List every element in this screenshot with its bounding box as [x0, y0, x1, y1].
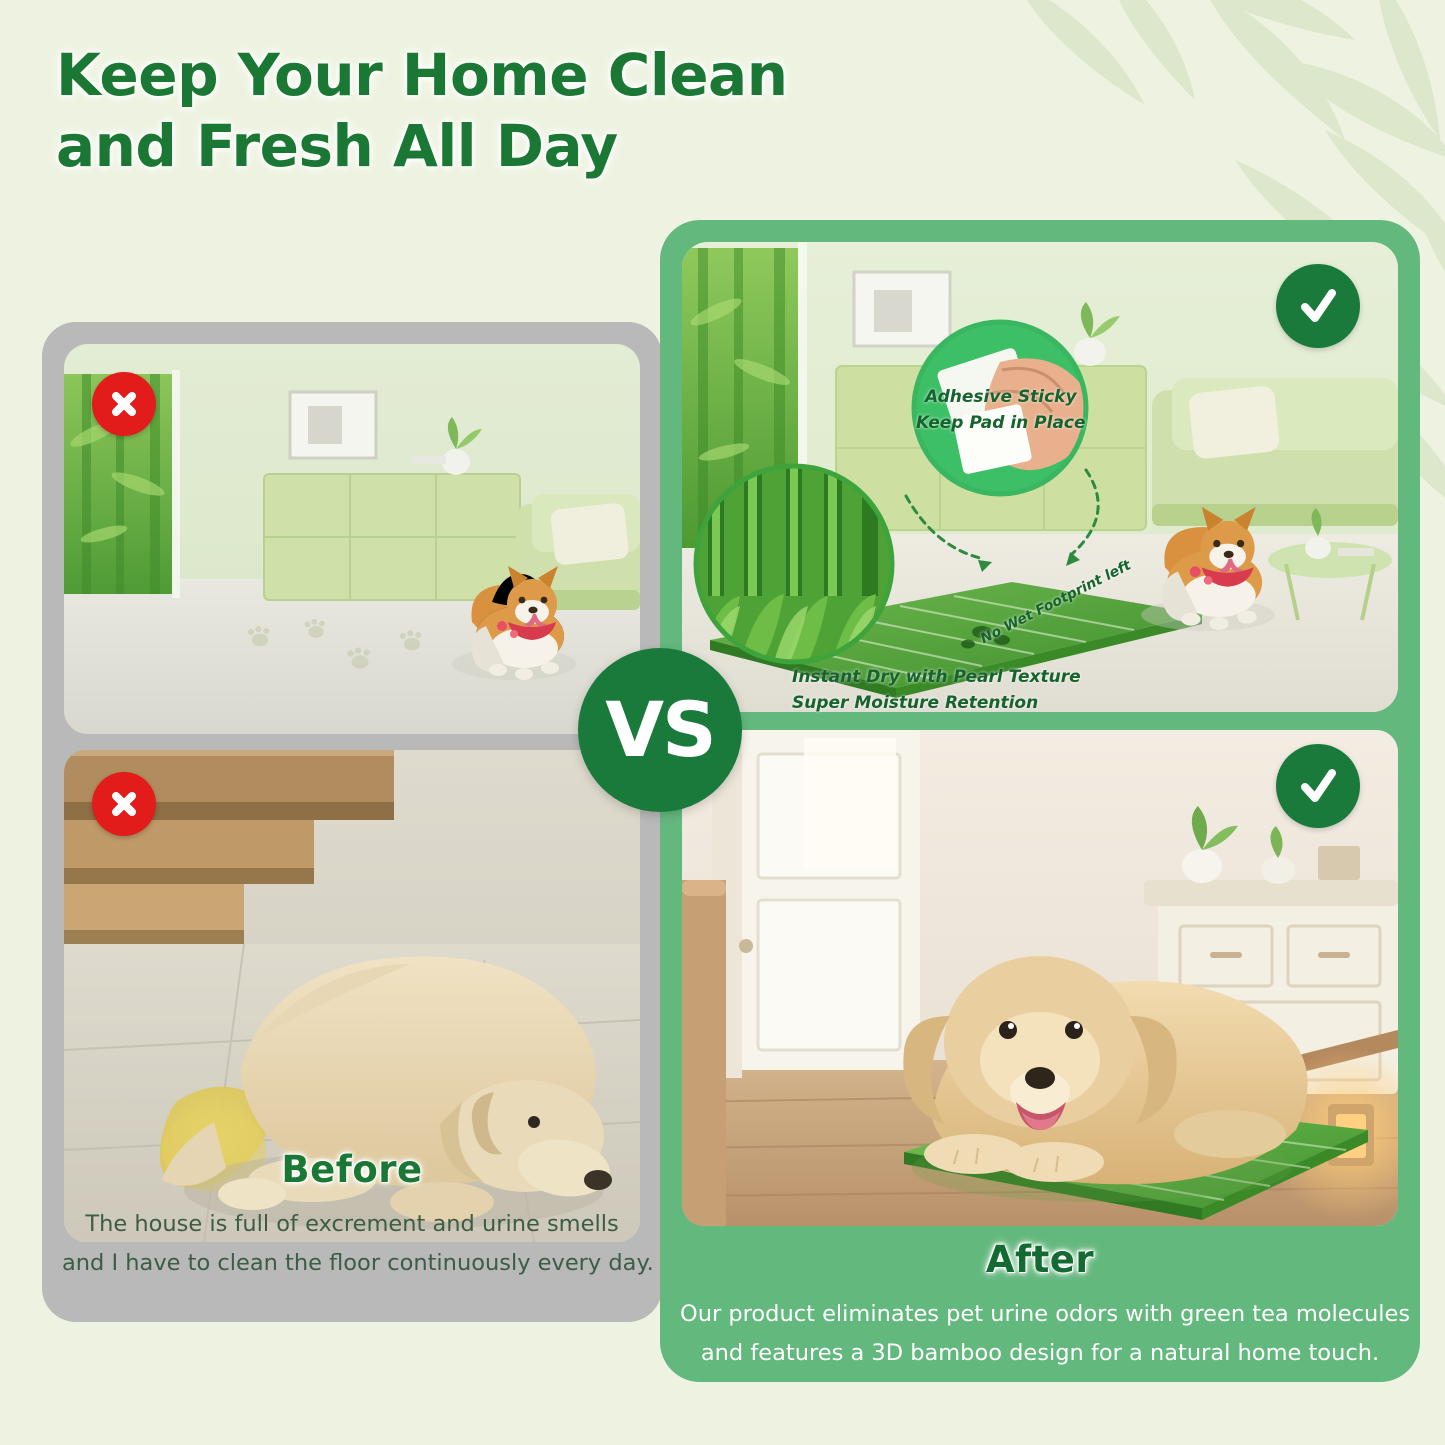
before-description: The house is full of excrement and urine… — [62, 1205, 642, 1284]
annotation-adhesive-line-2: Keep Pad in Place — [916, 410, 1086, 436]
annotation-adhesive-line-1: Adhesive Sticky — [916, 384, 1086, 410]
before-caption: Before The house is full of excrement an… — [62, 1148, 642, 1284]
annotation-instant-line-1: Instant Dry with Pearl Texture — [792, 664, 1081, 690]
after-description: Our product eliminates pet urine odors w… — [680, 1295, 1400, 1374]
annotation-adhesive: Adhesive Sticky Keep Pad in Place — [916, 384, 1086, 437]
check-mark-icon — [1292, 760, 1344, 812]
check-badge — [1276, 744, 1360, 828]
after-title: After — [680, 1238, 1400, 1281]
before-title: Before — [62, 1148, 642, 1191]
annotation-instant-dry: Instant Dry with Pearl Texture Super Moi… — [792, 664, 1081, 717]
headline-line-1: Keep Your Home Clean — [56, 41, 787, 109]
x-mark-icon — [107, 387, 141, 421]
after-image-dog-on-pad — [682, 730, 1398, 1226]
before-description-line-2: and I have to clean the floor continuous… — [62, 1244, 642, 1283]
vs-label: VS — [605, 692, 715, 768]
page-title: Keep Your Home Clean and Fresh All Day — [56, 40, 876, 182]
cross-badge — [92, 772, 156, 836]
x-mark-icon — [107, 787, 141, 821]
before-image-living-room — [64, 344, 640, 734]
cross-badge — [92, 372, 156, 436]
vs-badge: VS — [578, 648, 742, 812]
poster-canvas: Keep Your Home Clean and Fresh All Day — [0, 0, 1445, 1445]
annotation-instant-line-2: Super Moisture Retention — [792, 690, 1081, 716]
before-description-line-1: The house is full of excrement and urine… — [62, 1205, 642, 1244]
after-description-line-2: and features a 3D bamboo design for a na… — [680, 1334, 1400, 1373]
check-badge — [1276, 264, 1360, 348]
headline-line-2: and Fresh All Day — [56, 111, 876, 182]
check-mark-icon — [1292, 280, 1344, 332]
after-image-pad-features — [682, 242, 1398, 712]
after-caption: After Our product eliminates pet urine o… — [680, 1238, 1400, 1374]
after-description-line-1: Our product eliminates pet urine odors w… — [680, 1295, 1400, 1334]
